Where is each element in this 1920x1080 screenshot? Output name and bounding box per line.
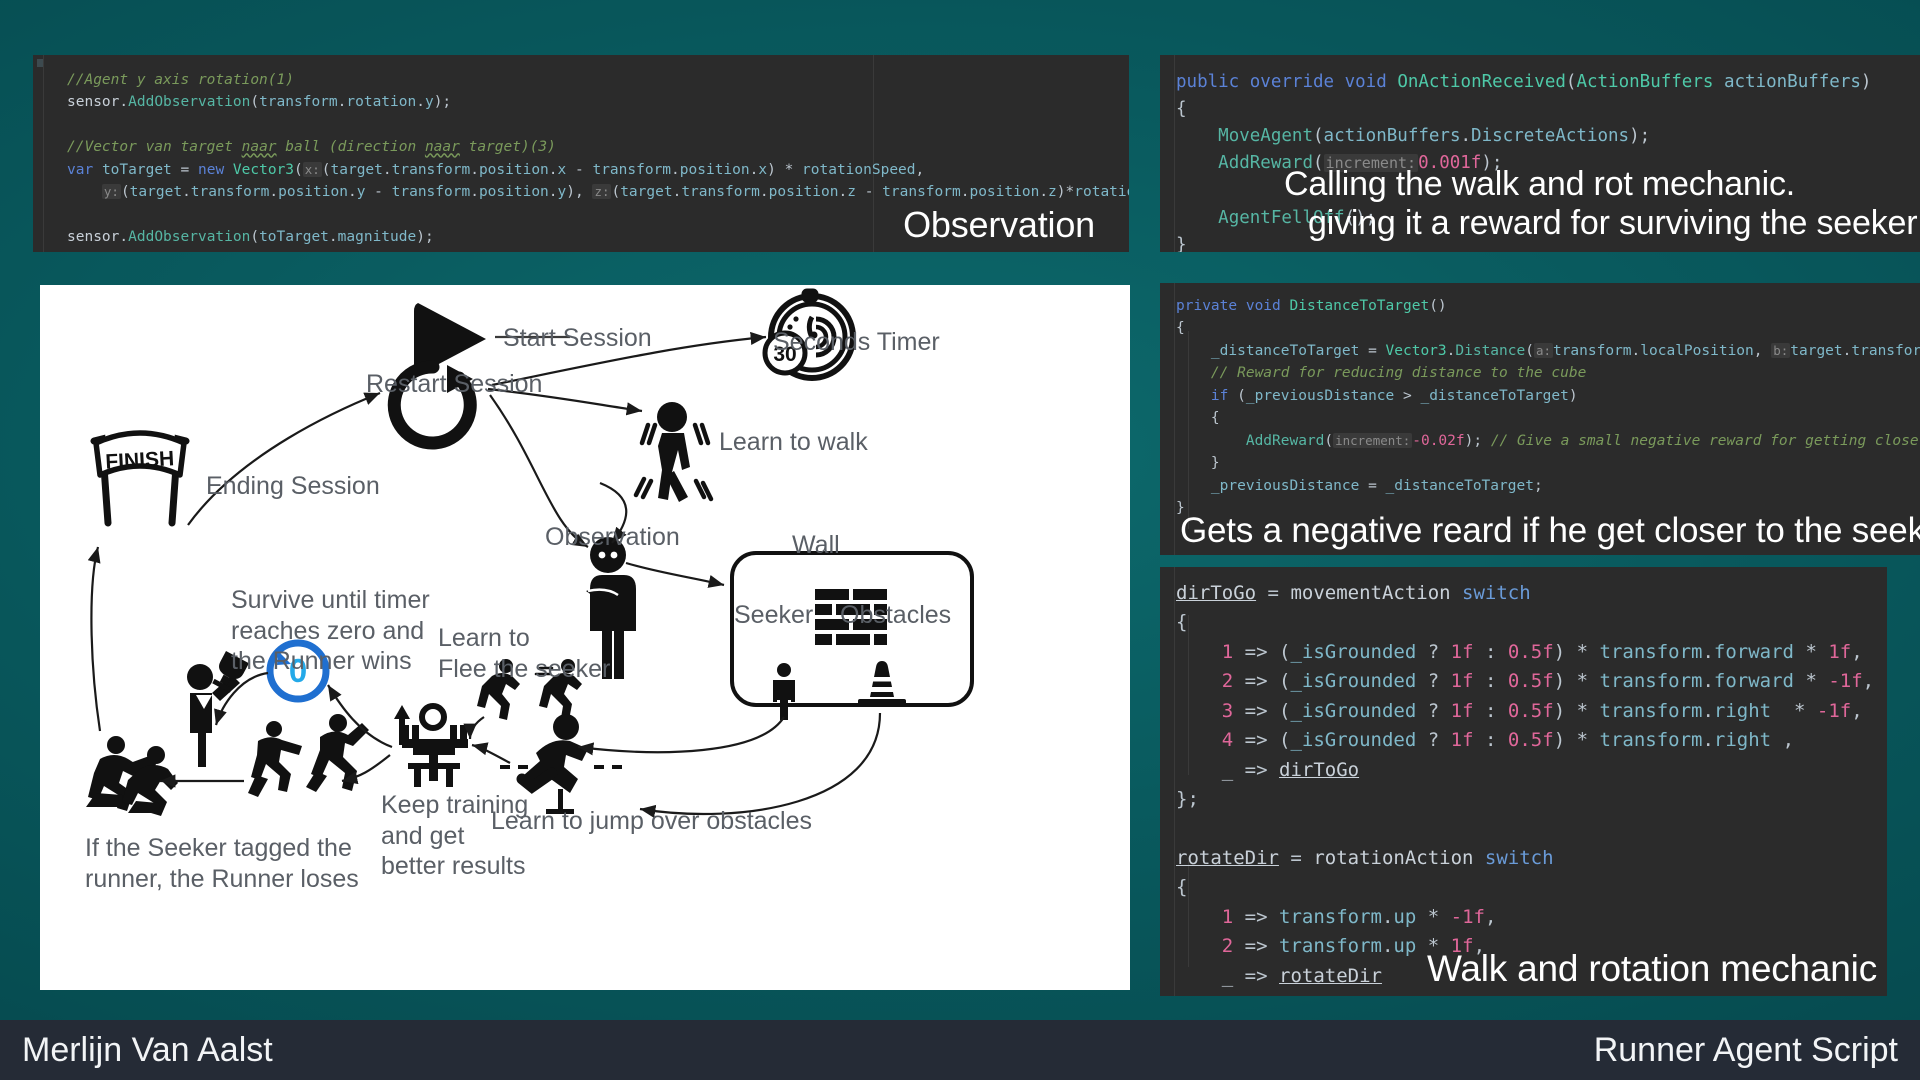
label-learn-to-jump: Learn to jump over obstacles [491,806,812,837]
finish-flag-icon: FINISH [94,433,186,523]
distancetotarget-code: private void DistanceToTarget() { _dista… [1176,295,1920,520]
switch-code-panel[interactable]: dirToGo = movementAction switch { 1 => (… [1160,567,1887,996]
observation-code-panel[interactable]: //Agent y axis rotation(1) sensor.AddObs… [33,55,1129,252]
label-start-session: Start Session [503,324,652,352]
label-seeker-tagged: If the Seeker tagged the runner, the Run… [85,833,359,894]
onactionreceived-code-panel[interactable]: public override void OnActionReceived(Ac… [1160,55,1920,252]
footer-title: Runner Agent Script [1594,1031,1898,1070]
switch-caption: Walk and rotation mechanic [1427,948,1877,990]
switch-code: dirToGo = movementAction switch { 1 => (… [1176,579,1874,996]
label-learn-to-flee: Learn to Flee the seeker [438,623,610,684]
label-learn-to-walk: Learn to walk [719,427,868,458]
learn-to-walk-icon [636,402,711,502]
label-survive: Survive until timer reaches zero and the… [231,585,430,677]
label-ending-session: Ending Session [206,471,380,502]
observation-caption: Observation [903,204,1095,246]
finish-flag-text: FINISH [105,447,175,474]
distance-caption: Gets a negative reard if he get closer t… [1180,511,1920,551]
diagram-card[interactable]: 30 FINISH [40,285,1130,990]
footer-bar: Merlijn Van Aalst Runner Agent Script [0,1020,1920,1080]
footer-author: Merlijn Van Aalst [22,1031,273,1070]
label-seconds-timer: Seconds Timer [773,327,940,358]
keep-training-icon [394,705,468,787]
distancetotarget-code-panel[interactable]: private void DistanceToTarget() { _dista… [1160,283,1920,555]
label-observation: Observation [545,522,680,553]
onaction-caption-1: Calling the walk and rot mechanic. [1284,165,1795,204]
seeker-tags-runner-icon [248,714,369,797]
label-obstacles: Obstacles [840,600,951,631]
label-restart-session: Restart Session [366,369,542,400]
runner-loses-icon [86,736,178,816]
onaction-caption-2: giving it a reward for surviving the see… [1308,204,1917,243]
environment-box [732,553,972,720]
label-seeker: Seeker [734,600,813,631]
label-wall: Wall [792,530,840,561]
